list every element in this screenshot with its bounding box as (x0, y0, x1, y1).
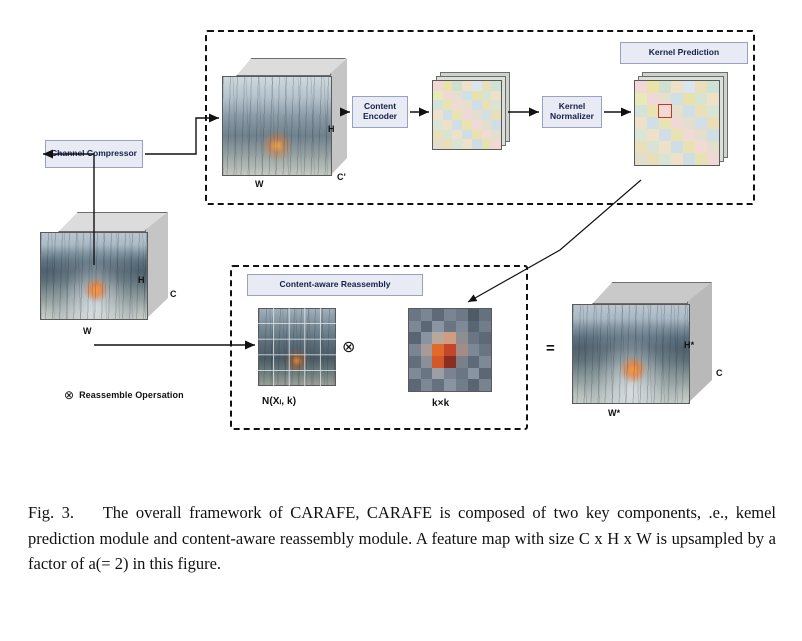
caption-text: The overall framework of CARAFE, CARAFE … (28, 503, 776, 573)
caption-prefix: Fig. 3. (28, 503, 74, 522)
figure-diagram: Kernel Prediction Content-aware Reassemb… (0, 0, 802, 470)
arrow-layer (0, 0, 802, 470)
figure-caption: Fig. 3. The overall framework of CARAFE,… (28, 500, 776, 577)
